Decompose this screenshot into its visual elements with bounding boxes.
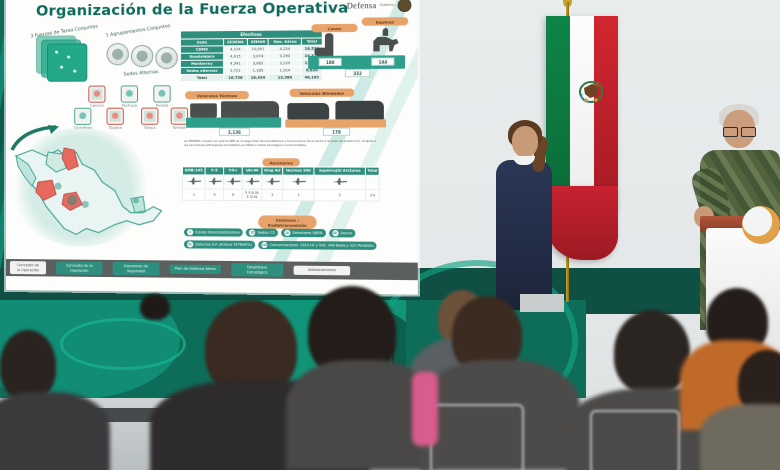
aircraft-icon [205,175,224,189]
projection-screen: Organización de la Fuerza Operativa Defe… [6,0,418,295]
count-dogs: 188 [319,58,342,67]
helicopter-icon [242,175,262,189]
armored-van-silhouette [287,103,329,119]
cell: 2 [262,189,283,201]
mexico-map-outline [6,120,179,262]
comms-count: 140 [262,242,268,248]
comms-label: Radios C5 [258,231,275,235]
aircraft-icon-row [182,175,379,190]
comms-row-2: 81 Sistemas A.P. (Antena TETRAPOL) 140 C… [184,240,377,250]
cell: 1 [283,189,314,201]
armored-platform [285,119,386,127]
badge-aircraft: Aeronaves [262,158,299,166]
comms-count: 35 [249,230,255,236]
stage-step [520,294,564,312]
nav-tab-adiestramiento[interactable]: Adiestramiento [294,266,351,275]
comms-count: 3 [187,229,193,235]
city-badge-puebla: Puebla [153,85,170,107]
audience-pink-bag [412,372,438,446]
drone-icon [283,175,314,189]
comms-label: Comunicaciones: 1910 HF y VHF, 440 Radio… [270,243,374,248]
joint-emblem-1-icon [107,43,129,65]
audience-shoulders [700,404,780,470]
slide-title: Organización de la Fuerza Operativa [36,0,349,19]
cell: 1 [182,189,205,201]
col-header: UH-60 [242,167,262,175]
aircraft-icon [262,175,283,189]
joint-emblem-3-icon [155,47,177,69]
col-header: King Air [262,167,283,175]
defense-seal-icon [398,0,412,12]
audience-shoulders [0,392,110,470]
drone-icon [314,175,366,190]
aircraft-table: EMB-145 F-5 T-6+ UH-60 King Air Hermes 9… [182,166,380,201]
comms-count: 81 [187,241,193,247]
slide-note: La SEDENA cuenta con que la SRE es la se… [184,140,378,147]
cell: 18,434 [247,74,268,81]
nav-tab-concepto[interactable]: Concepto de la Operación [56,262,102,275]
pachuca-crest-icon [121,85,138,102]
col-header: EMB-145 [182,167,205,175]
tactical-platform [186,117,281,127]
cell-total: 48,162 [301,74,322,81]
personnel-table: Efectivos Sede SEDENA SEMAR Gpo. Aéreo T… [180,29,323,82]
comms-label: Sistemas A.P. (Antena TETRAPOL) [195,242,252,247]
col-header: Total [366,167,380,175]
joint-emblem-2-icon [131,45,153,67]
armored-suv-silhouette [335,101,383,121]
screenshot-root: Organización de la Fuerza Operativa Defe… [0,0,780,470]
nav-tab-despliegue[interactable]: Despliegue Estratégico [231,264,283,277]
aircraft-icon [182,175,205,189]
city-label: Puebla [153,103,170,107]
puebla-crest-icon [153,85,170,102]
logo-subline-1: Gobierno [380,3,395,8]
podium-seal-icon [742,206,780,244]
comms-item: 81 Sistemas A.P. (Antena TETRAPOL) [184,240,255,249]
city-label: Pachuca [121,103,138,107]
city-badge-pachuca: Pachuca [121,85,138,107]
logo-wordmark: Defensa [347,1,377,11]
aircraft-icon [224,175,243,189]
comms-item: 35 Radios C5 [246,229,278,237]
table-total-row: Total 16,758 18,434 13,380 48,162 [180,74,322,82]
comms-label: Equipo Desestabilizadores [195,230,240,234]
badge-armored-vehicles: Vehículos Blindados [289,89,354,98]
badge-tactical-vehicles: Vehículos Tácticos [185,91,249,100]
badge-comms: Sistemas / Radiotransmisión [258,215,316,229]
mexican-flag [546,16,618,211]
flag-drape [546,186,618,260]
comms-row-1: 3 Equipo Desestabilizadores 35 Radios C5… [184,228,356,237]
comms-item: 48 Drones [329,229,356,237]
city-label: Cancún [88,103,105,107]
comms-item: 30 Detectores QBRN [281,229,326,237]
cancun-crest-icon [88,86,105,103]
count-animals-total: 332 [345,69,370,78]
audience-head [0,330,56,400]
official-head [512,126,538,157]
comms-item: 3 Equipo Desestabilizadores [184,228,243,237]
cell: 16,758 [223,74,247,81]
nav-tab-plan-aereo[interactable]: Plan de Defensa Aérea [170,265,221,274]
task-force-cards-icon [36,35,90,84]
cell: 3 [205,189,224,201]
count-tactical-vehicles: 2,136 [219,128,250,136]
audience-head [614,310,690,394]
count-armored-vehicles: 178 [323,128,350,136]
cell: 13,380 [269,74,302,81]
cell: 1,185 [247,67,268,74]
coat-of-arms-icon [576,76,606,108]
city-badge-cancun: Cancún [88,86,105,108]
nav-tab-current[interactable]: Concepto de la Operación [10,262,46,274]
nav-tab-esquemas[interactable]: Esquemas de Seguridad [113,262,160,275]
count-horses: 144 [371,57,394,66]
slide-footer-nav: Concepto de la Operación Concepto de la … [6,259,418,280]
cell: 9 [224,189,243,201]
col-header: Hermes 900 [283,167,314,175]
row-label: Total [180,74,223,81]
flag-band-red [594,16,618,211]
badge-canines: Canes [311,24,357,33]
col-header: F-5 [205,167,224,175]
comms-label: Drones [340,231,352,235]
cell: 3 F.A.M. 3 G.N. [242,189,262,201]
eyeglasses-icon [723,127,756,135]
audience-head [140,294,170,320]
backdrop-swoosh [60,318,186,370]
caption-alt-sites: Sedes Alternas [110,69,171,79]
col-header: Saphire/JSI Arcturus [314,167,366,175]
mexico-map [6,120,179,262]
slide-logo: Defensa Gobierno [347,0,412,13]
comms-count: 30 [284,230,290,236]
blank-cell [366,175,380,189]
col-header: T-6+ [224,167,243,175]
cell: 2 [314,189,366,201]
audience-chair [430,404,524,470]
dog-silhouette [314,48,328,56]
official-body [496,160,552,310]
comms-label: Detectores QBRN [292,231,322,235]
comms-item: 140 Comunicaciones: 1910 HF y VHF, 440 R… [258,241,376,250]
audience-chair [590,410,680,470]
motorcycle-group-silhouette [190,103,217,117]
aircraft-value-row: 1 3 9 3 F.A.M. 3 G.N. 2 1 2 24 [182,189,379,201]
caption-groupings: 1 Agrupamientos Conjuntos [102,24,173,39]
cell-total: 24 [366,189,380,201]
comms-count: 48 [332,230,338,236]
flag-band-white [570,16,594,211]
presentation-slide: Organización de la Fuerza Operativa Defe… [6,0,418,295]
